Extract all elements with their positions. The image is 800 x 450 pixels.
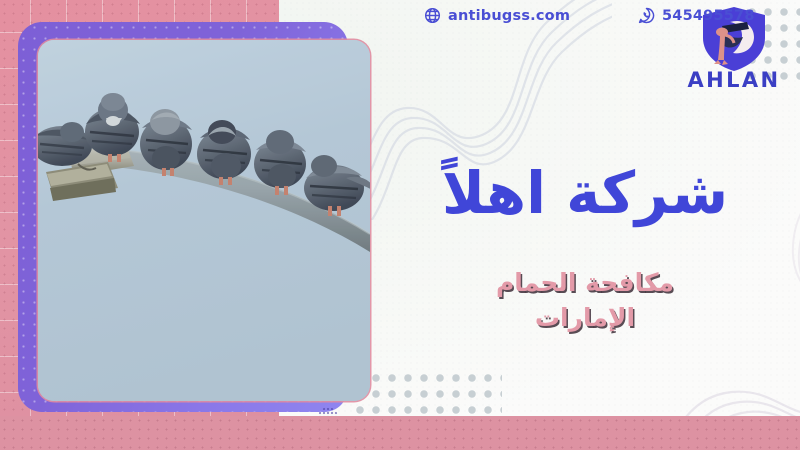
whatsapp-icon [638,7,655,24]
website-label: antibugss.com [448,8,570,24]
globe-icon [424,7,441,24]
subtitle-service: مكافحة الحمام [400,268,770,297]
website-contact[interactable]: antibugss.com [424,7,570,24]
contact-footer [0,416,800,450]
poster-canvas: AHLAN شركة اهلاً مكافحة الحمام الإمارات … [0,0,800,450]
whatsapp-number: 545495578 [662,8,755,24]
whatsapp-contact[interactable]: 545495578 [638,7,755,24]
footer-dot-texture [0,416,800,450]
logo-wordmark: AHLAN [686,68,782,92]
page-title: شركة اهلاً [400,163,770,224]
subtitle-location: الإمارات [400,303,770,332]
pigeons-photo [38,40,370,401]
dot-grid-bottom [352,370,502,418]
